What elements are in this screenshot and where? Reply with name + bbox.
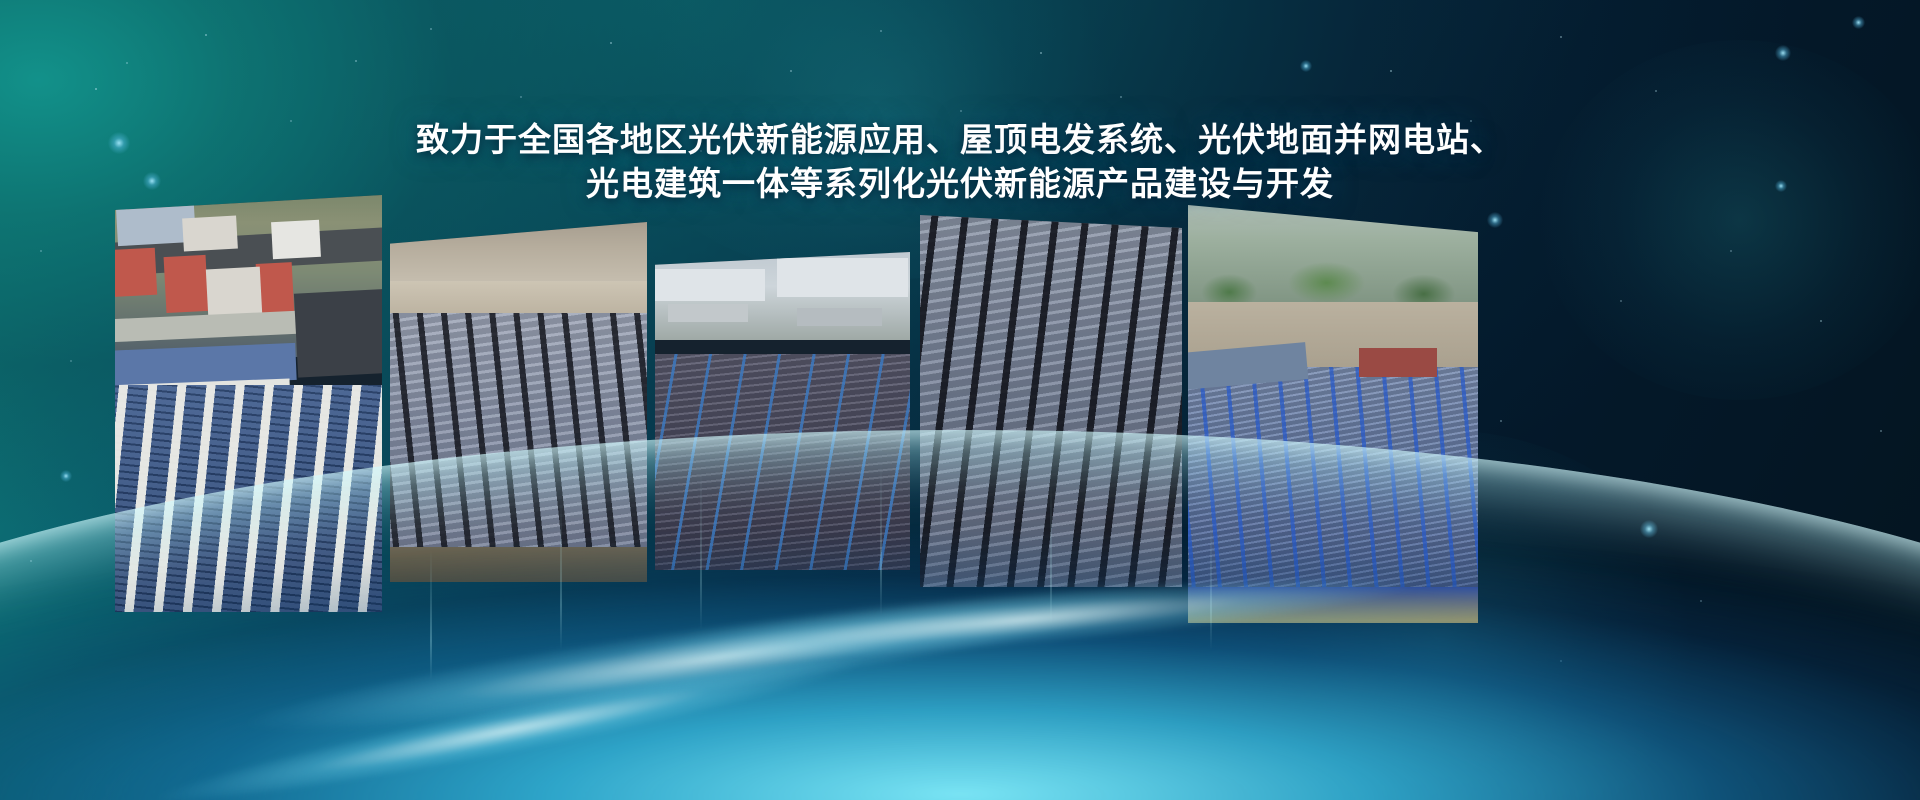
banner-headline: 致力于全国各地区光伏新能源应用、屋顶电发系统、光伏地面并网电站、 光电建筑一体等… [0,118,1920,206]
headline-line-1: 致力于全国各地区光伏新能源应用、屋顶电发系统、光伏地面并网电站、 [0,118,1920,162]
globe-ray-3 [700,470,702,630]
globe-ray-2 [560,500,562,650]
headline-line-2: 光电建筑一体等系列化光伏新能源产品建设与开发 [0,162,1920,206]
globe-ray-4 [880,465,882,615]
globe-ray-5 [1050,485,1052,625]
globe-ray-1 [430,550,432,680]
globe-ray-6 [1210,520,1212,650]
solar-energy-hero-banner: 致力于全国各地区光伏新能源应用、屋顶电发系统、光伏地面并网电站、 光电建筑一体等… [0,0,1920,800]
